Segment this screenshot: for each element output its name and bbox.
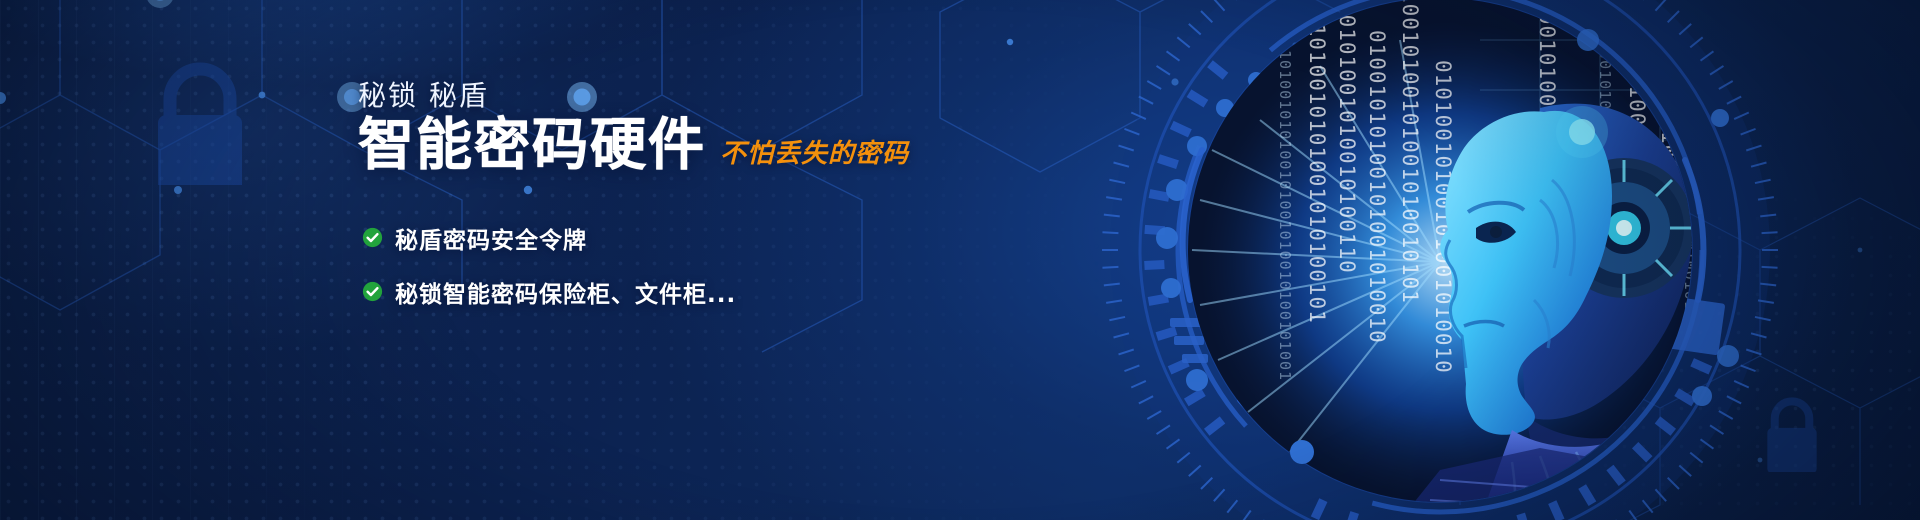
svg-text:10010100101001010010101: 10010100101001010010101 (1398, 0, 1422, 304)
list-item: 秘盾密码安全令牌 (362, 221, 978, 255)
list-item-label: 秘盾密码安全令牌 (395, 221, 587, 255)
list-item-label: 秘锁智能密码保险柜、文件柜... (395, 275, 736, 309)
robot-hud-artwork: 01010010101001010100101 1010010100101001… (840, 0, 1920, 520)
svg-text:01001010100101001010010: 01001010100101001010010 (1365, 30, 1389, 344)
headline-row: 智能密码硬件 不怕丢失的密码 (358, 115, 978, 177)
check-circle-icon (362, 227, 383, 248)
padlock-icon (140, 55, 260, 185)
list-item: 秘锁智能密码保险柜、文件柜... (362, 275, 978, 309)
banner-copy: 秘锁 秘盾 智能密码硬件 不怕丢失的密码 秘盾密码安全令牌 秘锁智能密码保险柜、… (358, 78, 978, 329)
svg-text:010100101010010100101001010010: 0101001010100101001010010100101001 (1276, 40, 1294, 381)
hud-rings: 01010010101001010100101 1010010100101001… (840, 0, 1920, 520)
hero-banner: 01010010101001010100101 1010010100101001… (0, 0, 1920, 520)
brand-eyebrow: 秘锁 秘盾 (358, 78, 978, 113)
svg-text:01010010101001010100101: 01010010101001010100101 (1305, 10, 1329, 324)
feature-list: 秘盾密码安全令牌 秘锁智能密码保险柜、文件柜... (362, 221, 978, 309)
page-title: 智能密码硬件 (358, 115, 706, 177)
check-circle-icon (362, 281, 383, 302)
tagline: 不怕丢失的密码 (720, 133, 909, 177)
svg-text:10100101001010010100110: 10100101001010010100110 (1335, 0, 1359, 274)
